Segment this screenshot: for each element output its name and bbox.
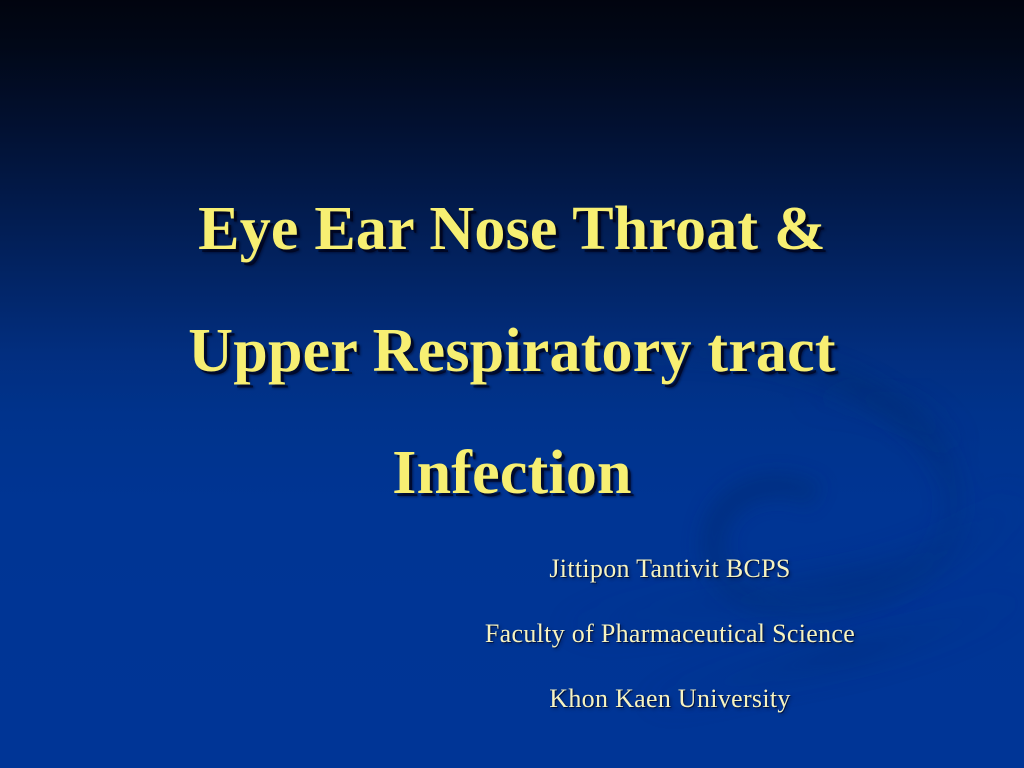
slide-content: Eye Ear Nose Throat & Upper Respiratory … — [0, 0, 1024, 768]
slide-subtitle: Jittipon Tantivit BCPS Faculty of Pharma… — [0, 536, 1024, 731]
title-line-2: Upper Respiratory tract — [0, 290, 1024, 412]
university-name: Khon Kaen University — [549, 666, 790, 731]
subtitle-line-faculty: Faculty of Pharmaceutical Science — [0, 601, 1024, 666]
author-name: Jittipon Tantivit BCPS — [549, 536, 790, 601]
faculty-name: Faculty of Pharmaceutical Science — [485, 601, 855, 666]
title-line-3: Infection — [0, 412, 1024, 534]
slide-title: Eye Ear Nose Throat & Upper Respiratory … — [0, 168, 1024, 534]
title-line-1: Eye Ear Nose Throat & — [0, 168, 1024, 290]
subtitle-line-university: Khon Kaen University — [0, 666, 1024, 731]
subtitle-line-author: Jittipon Tantivit BCPS — [0, 536, 1024, 601]
presentation-slide: Eye Ear Nose Throat & Upper Respiratory … — [0, 0, 1024, 768]
